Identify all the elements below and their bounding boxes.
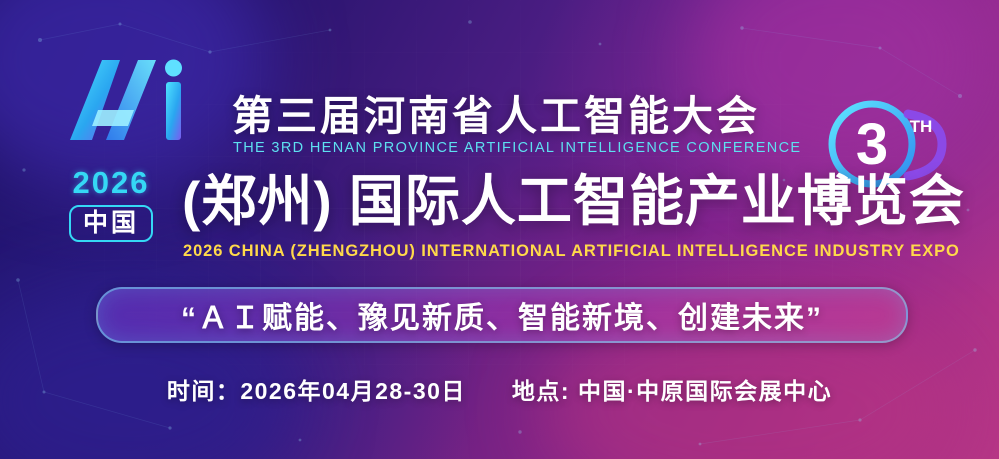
expo-title-english: 2026 CHINA (ZHENGZHOU) INTERNATIONAL ART… bbox=[183, 242, 960, 261]
ai-logo-icon bbox=[62, 52, 202, 148]
event-info-row: 时间：2026年04月28-30日 地点: 中国·中原国际会展中心 bbox=[0, 372, 999, 406]
expo-title-chinese: (郑州) 国际人工智能产业博览会 bbox=[182, 168, 965, 234]
headline-chinese: 第三届河南省人工智能大会 bbox=[232, 82, 760, 142]
slogan-text: “ＡＩ赋能、豫见新质、智能新境、创建未来” bbox=[181, 293, 823, 337]
conference-banner: 第三届河南省人工智能大会 THE 3RD HENAN PROVINCE ARTI… bbox=[0, 0, 999, 459]
slogan-pill: “ＡＩ赋能、豫见新质、智能新境、创建未来” bbox=[96, 287, 908, 343]
edition-suffix: TH bbox=[910, 117, 933, 136]
year-label: 2026 bbox=[52, 166, 170, 200]
event-venue: 地点: 中国·中原国际会展中心 bbox=[512, 372, 832, 406]
headline-english: THE 3RD HENAN PROVINCE ARTIFICIAL INTELL… bbox=[233, 140, 801, 156]
year-country-block: 2026 中国 bbox=[52, 166, 170, 242]
country-label: 中国 bbox=[69, 205, 153, 242]
title-row: 2026 中国 (郑州) 国际人工智能产业博览会 2026 CHINA (ZHE… bbox=[0, 162, 999, 262]
event-date: 时间：2026年04月28-30日 bbox=[167, 372, 466, 406]
headline-row: 第三届河南省人工智能大会 THE 3RD HENAN PROVINCE ARTI… bbox=[0, 44, 999, 154]
